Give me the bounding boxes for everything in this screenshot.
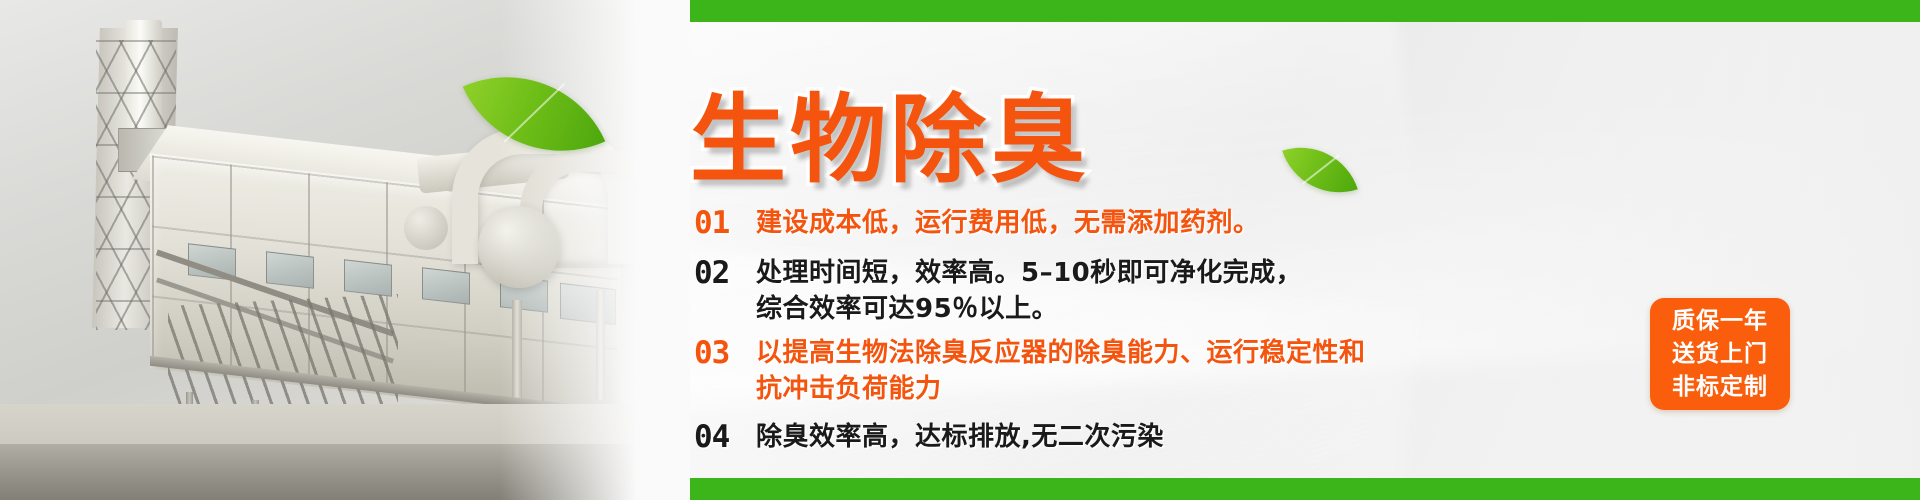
banner-title: 生物除臭 [690,62,1090,201]
feature-number: 04 [694,419,756,455]
feature-text-line: 抗冲击负荷能力 [756,371,1366,407]
feature-text: 除臭效率高，达标排放,无二次污染 [756,419,1164,455]
feature-number: 03 [694,335,756,371]
photo-right-fade [500,0,690,500]
feature-text-line: 综合效率可达95％以上。 [756,291,1302,327]
leaf-vein [504,83,566,143]
badge-line-delivery: 送货上门 [1672,338,1768,371]
feature-number: 01 [694,205,756,241]
product-photo [0,0,690,500]
equipment-window [422,267,470,304]
feature-text-line: 除臭效率高，达标排放,无二次污染 [756,419,1164,455]
feature-text: 建设成本低，运行费用低，无需添加药剂。 [756,205,1260,241]
equipment-window [266,251,314,288]
badge-line-warranty: 质保一年 [1672,305,1768,338]
feature-number: 02 [694,255,756,291]
list-item: 01 建设成本低，运行费用低，无需添加药剂。 [694,205,1874,241]
pipe-flange-small [404,206,448,250]
equipment-window [344,259,392,296]
feature-text: 处理时间短，效率高。5–10秒即可净化完成， 综合效率可达95％以上。 [756,255,1302,327]
photo-bottom-fade [0,440,690,500]
list-item: 04 除臭效率高，达标排放,无二次污染 [694,419,1874,455]
badge-line-customization: 非标定制 [1672,371,1768,404]
feature-text: 以提高生物法除臭反应器的除臭能力、运行稳定性和 抗冲击负荷能力 [756,335,1366,407]
promotional-banner: 生物除臭 01 建设成本低，运行费用低，无需添加药剂。 02 处理时间短，效率高… [0,0,1920,500]
banner-content: 生物除臭 01 建设成本低，运行费用低，无需添加药剂。 02 处理时间短，效率高… [690,0,1920,500]
guarantee-badge[interactable]: 质保一年 送货上门 非标定制 [1650,298,1790,410]
feature-text-line: 处理时间短，效率高。5–10秒即可净化完成， [756,255,1302,291]
feature-text-line: 建设成本低，运行费用低，无需添加药剂。 [756,205,1260,241]
feature-text-line: 以提高生物法除臭反应器的除臭能力、运行稳定性和 [756,335,1366,371]
